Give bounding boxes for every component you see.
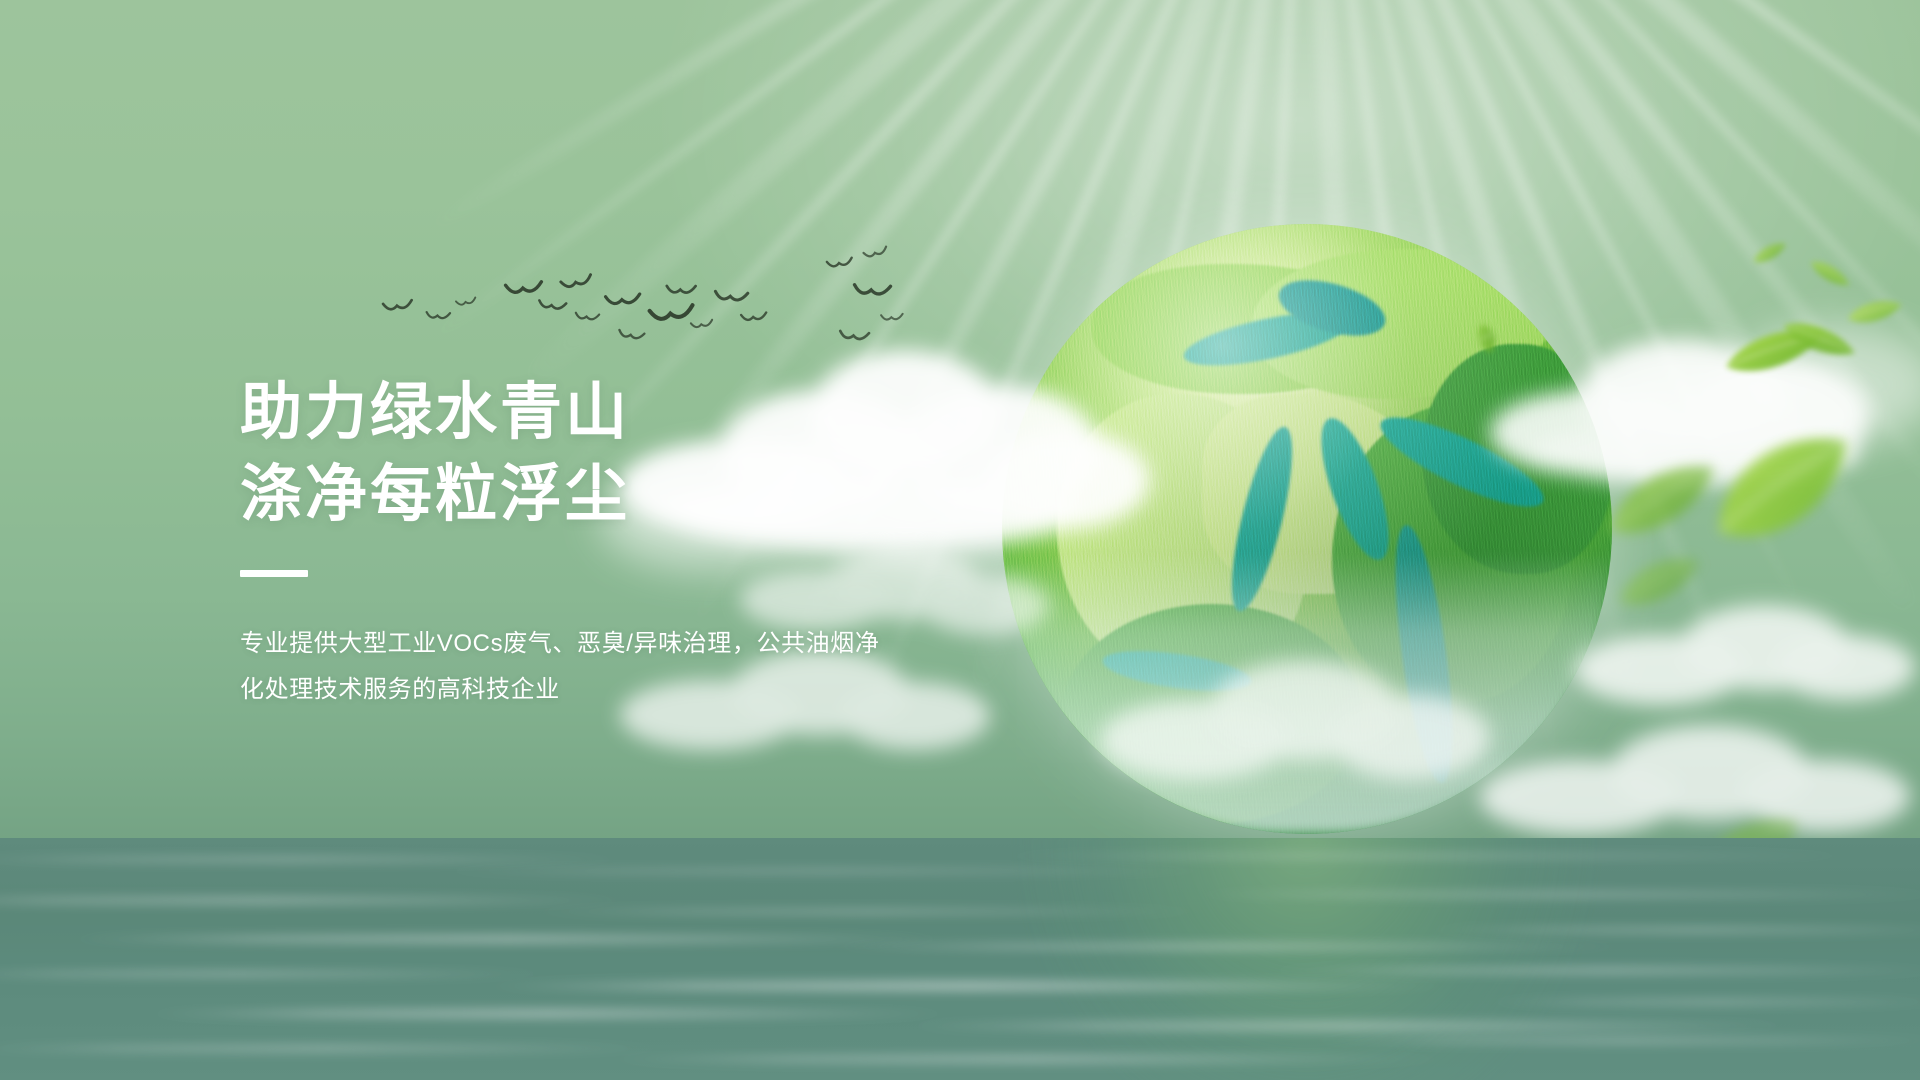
bird-icon xyxy=(604,292,643,313)
water-ripple xyxy=(900,1020,1800,1032)
water-ripple xyxy=(1260,966,1920,975)
bird-icon xyxy=(665,283,698,300)
cloud-over-globe xyxy=(1080,620,1500,810)
bird-icon xyxy=(837,328,870,347)
bird-icon xyxy=(740,311,769,327)
light-ray xyxy=(421,0,1311,238)
bird-icon xyxy=(825,256,855,274)
water-ripple xyxy=(820,942,1640,951)
bird-icon xyxy=(573,311,600,327)
water-ripple xyxy=(480,980,1460,992)
bird-icon xyxy=(851,282,892,305)
water-ripple xyxy=(420,868,1240,874)
water-ripple xyxy=(520,908,1220,915)
bird-icon xyxy=(880,312,904,325)
water-ripple xyxy=(0,856,640,863)
bird-icon xyxy=(559,273,596,297)
leaf-icon xyxy=(1749,237,1792,270)
headline-line-1: 助力绿水青山 xyxy=(240,372,900,454)
bird-icon xyxy=(381,298,414,317)
water-ripple xyxy=(0,1044,680,1053)
water-surface xyxy=(0,838,1920,1080)
bird-icon xyxy=(862,245,890,264)
hero-text-block: 助力绿水青山 涤净每粒浮尘 专业提供大型工业VOCs废气、恶臭/异味治理，公共油… xyxy=(240,372,900,714)
cloud-lower-right xyxy=(1460,690,1920,860)
water-ripple xyxy=(980,852,1880,860)
bird-icon xyxy=(425,310,452,325)
bird-icon xyxy=(712,288,749,309)
leaf-icon xyxy=(1805,254,1855,295)
water-ripple xyxy=(1180,890,1920,899)
accent-divider xyxy=(240,570,308,577)
water-ripple xyxy=(140,1008,960,1019)
bird-icon xyxy=(689,317,714,332)
water-ripple xyxy=(0,970,560,978)
water-ripple xyxy=(0,896,640,905)
water-ripple xyxy=(60,934,960,944)
hero-subtitle: 专业提供大型工业VOCs废气、恶臭/异味治理，公共油烟净化处理技术服务的高科技企… xyxy=(240,621,900,715)
hero-banner: 助力绿水青山 涤净每粒浮尘 专业提供大型工业VOCs废气、恶臭/异味治理，公共油… xyxy=(0,0,1920,1080)
bird-icon xyxy=(454,294,478,309)
bird-icon xyxy=(536,298,568,317)
water-ripple xyxy=(600,1054,1460,1064)
water-ripple xyxy=(1300,1036,1920,1045)
headline-line-2: 涤净每粒浮尘 xyxy=(240,454,900,536)
